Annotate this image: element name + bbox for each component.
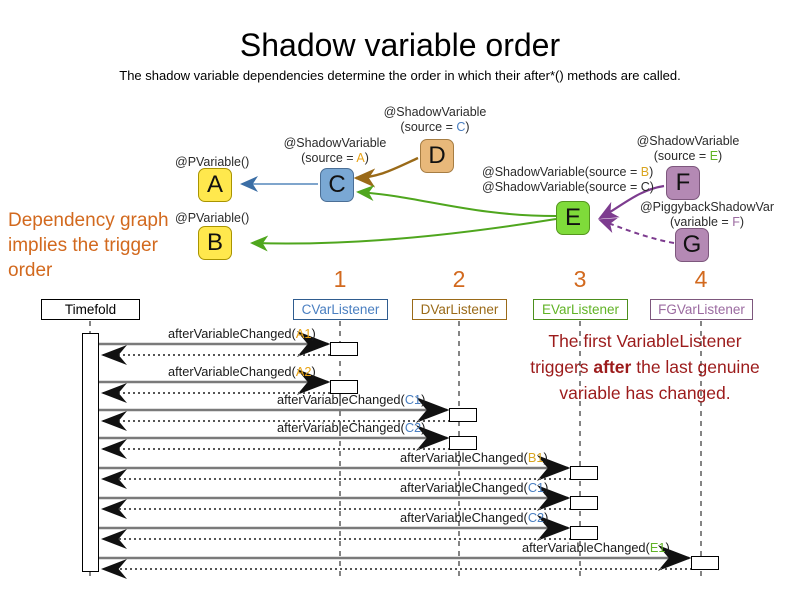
activation-fg-1 xyxy=(691,556,719,570)
diagram-canvas: Shadow variable order The shadow variabl… xyxy=(0,0,800,600)
variable-listener-note-line1: The first VariableListener xyxy=(492,328,798,354)
graph-node-e[interactable]: E xyxy=(556,201,590,235)
annotation-d-line2: (source = C) xyxy=(362,120,508,135)
message-label-7: afterVariableChanged(C2) xyxy=(400,510,548,525)
graph-node-f[interactable]: F xyxy=(666,166,700,200)
message-label-6: afterVariableChanged(C1) xyxy=(400,480,548,495)
annotation-b-text: @PVariable() xyxy=(175,211,249,225)
graph-node-a[interactable]: A xyxy=(198,168,232,202)
graph-node-b[interactable]: B xyxy=(198,226,232,260)
graph-node-c[interactable]: C xyxy=(320,168,354,202)
lifeline-header-evarlistener[interactable]: EVarListener xyxy=(533,299,628,320)
annotation-b: @PVariable() xyxy=(175,211,249,226)
annotation-d-line1: @ShadowVariable xyxy=(362,105,508,120)
variable-listener-note-emphasis: after xyxy=(593,357,631,377)
message-arg-2: A2 xyxy=(296,364,312,379)
annotation-g: @PiggybackShadowVar (variable = F) xyxy=(632,200,782,230)
annotation-c: @ShadowVariable (source = A) xyxy=(262,136,408,166)
message-label-5: afterVariableChanged(B1) xyxy=(400,450,548,465)
annotation-g-variable: F xyxy=(732,215,740,229)
annotation-e-line2: @ShadowVariable(source = C) xyxy=(482,180,654,195)
annotation-d: @ShadowVariable (source = C) xyxy=(362,105,508,135)
message-arg-7: C2 xyxy=(528,510,544,525)
annotation-c-line1: @ShadowVariable xyxy=(262,136,408,151)
annotation-g-line1: @PiggybackShadowVar xyxy=(632,200,782,215)
annotation-e: @ShadowVariable(source = B) @ShadowVaria… xyxy=(482,165,654,195)
variable-listener-note-line2: triggers after the last genuine xyxy=(492,354,798,380)
lifeline-header-dvarlistener[interactable]: DVarListener xyxy=(412,299,507,320)
variable-listener-note: The first VariableListener triggers afte… xyxy=(492,328,798,406)
message-label-4: afterVariableChanged(C2) xyxy=(277,420,425,435)
message-label-3: afterVariableChanged(C1) xyxy=(277,392,425,407)
activation-d-2 xyxy=(449,436,477,450)
graph-node-g[interactable]: G xyxy=(675,228,709,262)
lifeline-header-timefold[interactable]: Timefold xyxy=(41,299,140,320)
activation-c-1 xyxy=(330,342,358,356)
annotation-c-line2: (source = A) xyxy=(262,151,408,166)
annotation-e-source-b: B xyxy=(641,165,649,179)
lifeline-header-fgvarlistener[interactable]: FGVarListener xyxy=(650,299,753,320)
activation-e-3 xyxy=(570,526,598,540)
annotation-f-line2: (source = E) xyxy=(612,149,764,164)
annotation-c-source: A xyxy=(356,151,364,165)
annotation-f-line1: @ShadowVariable xyxy=(612,134,764,149)
message-label-2: afterVariableChanged(A2) xyxy=(168,364,316,379)
message-arg-8: E1 xyxy=(650,540,666,555)
variable-listener-note-line3: variable has changed. xyxy=(492,380,798,406)
message-arg-1: A1 xyxy=(296,326,312,341)
graph-node-d[interactable]: D xyxy=(420,139,454,173)
activation-d-1 xyxy=(449,408,477,422)
message-arg-6: C1 xyxy=(528,480,544,495)
annotation-f-source: E xyxy=(710,149,718,163)
annotation-a-text: @PVariable() xyxy=(175,155,249,169)
annotation-e-line1: @ShadowVariable(source = B) xyxy=(482,165,654,180)
activation-timefold xyxy=(82,333,99,572)
annotation-f: @ShadowVariable (source = E) xyxy=(612,134,764,164)
message-label-8: afterVariableChanged(E1) xyxy=(522,540,670,555)
message-arg-5: B1 xyxy=(528,450,544,465)
message-arg-3: C1 xyxy=(405,392,421,407)
activation-e-1 xyxy=(570,466,598,480)
lifeline-header-cvarlistener[interactable]: CVarListener xyxy=(293,299,388,320)
annotation-g-line2: (variable = F) xyxy=(632,215,782,230)
activation-e-2 xyxy=(570,496,598,510)
message-label-1: afterVariableChanged(A1) xyxy=(168,326,316,341)
message-arg-4: C2 xyxy=(405,420,421,435)
